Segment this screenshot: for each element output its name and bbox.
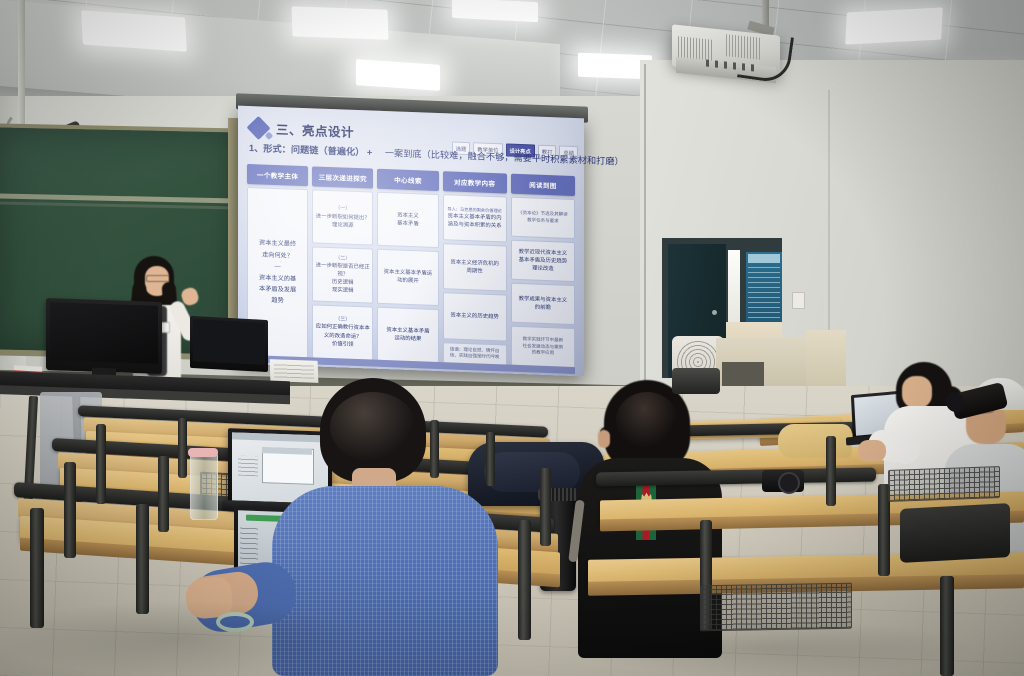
ceiling-light <box>292 6 389 39</box>
flow-cell-1-2: （三） 应如何正确教行资本本 义的改造命运？ 价值引领 <box>312 304 373 361</box>
compact-camera-lens-icon <box>778 472 800 494</box>
desk-post <box>518 520 531 640</box>
ceiling-light <box>845 7 943 44</box>
crown-icon <box>641 488 652 497</box>
flow-column-2: 中心线索 资本主义 基本矛盾 资本主义基本矛盾运 动的展开 资本主义基本矛盾 运… <box>377 169 438 363</box>
slide-diamond-small-icon <box>265 132 273 140</box>
light-switch[interactable] <box>792 292 805 309</box>
flow-column-header-4: 阅读到图 <box>511 174 575 196</box>
desk-post <box>178 418 187 478</box>
observer-right-face <box>902 376 932 408</box>
flow-column-header-2: 中心线索 <box>377 169 438 191</box>
projection-screen: 三、亮点设计 选题 教学单位 设计亮点 教打 总结 1、形式：问题链（普遍化） … <box>238 106 584 377</box>
flow-column-header-0: 一个教学主体 <box>247 164 308 186</box>
tumbler-lid <box>188 448 218 457</box>
slide-heading: 三、亮点设计 <box>276 119 354 141</box>
observer-right-hand <box>858 440 886 462</box>
flow-cell-2-0: 资本主义 基本矛盾 <box>377 192 438 249</box>
flow-column-1: 三层次递进探究 （一） 进一步断裂如何提出？ 理论溯源 （二） 进一步断裂是否已… <box>312 166 373 360</box>
flow-cell-4-1: 教学近现代资本主义 基本矛盾及历史趋势 理论改造 <box>511 240 575 282</box>
flow-cell-1-0: （一） 进一步断裂如何提出？ 理论溯源 <box>312 189 373 246</box>
instructor-glasses-icon <box>146 275 170 282</box>
podium-monitor-screen[interactable] <box>50 302 158 364</box>
desk-post <box>96 424 106 504</box>
chair[interactable] <box>900 503 1010 563</box>
desk-post <box>486 432 495 486</box>
tumbler-bottle <box>190 452 218 520</box>
wall-seam <box>644 64 646 394</box>
floor-shadow <box>560 620 980 676</box>
flow-cell-1-1: （二） 进一步断裂是否已经正视？ 历史逻辑 现实逻辑 <box>312 247 373 304</box>
flow-cell-4-3: 教学实践环节中最新 社会发展动态与案例 的教学应用 <box>511 326 575 368</box>
flow-cell-text: 应如何正确教行资本本 义的改造命运？ 价值引领 <box>316 323 370 349</box>
notice-board-text <box>748 266 780 318</box>
flow-column-header-1: 三层次递进探究 <box>312 166 373 188</box>
flow-cell-2-1: 资本主义基本矛盾运 动的展开 <box>377 249 438 306</box>
student-center-hair-highlight <box>616 392 678 448</box>
student-front-hair-highlight <box>330 392 416 462</box>
notice-board-title <box>748 254 780 263</box>
desk-post <box>136 504 149 614</box>
doorway-light <box>728 250 740 326</box>
podium-laptop-screen[interactable] <box>193 319 265 365</box>
desk-post <box>826 436 836 506</box>
flow-cell-3-1: 资本主义经济危机的 周期性 <box>443 243 507 292</box>
flow-cell-text: 资本主义基本矛盾的内 涵及与资本积累的关系 <box>448 212 502 230</box>
flow-cell-text: 进一步断裂如何提出？ 理论溯源 <box>316 212 370 230</box>
desk-post <box>158 456 169 532</box>
floor-shadow <box>0 600 360 676</box>
cabinet-shelf <box>722 362 764 388</box>
flow-cell-4-2: 教学成果与资本主义 的前瞻 <box>511 283 575 325</box>
slide-flowchart: 一个教学主体 资本主义最终 走向何处？ — 资本主义的基 本矛盾及发展 趋势 三… <box>247 164 575 368</box>
desk-post <box>64 462 76 558</box>
chair[interactable] <box>672 368 720 394</box>
desk-post <box>430 420 439 478</box>
laptop-text-lines <box>238 456 258 477</box>
flow-cell-2-2: 资本主义基本矛盾 运动的结果 <box>377 306 438 363</box>
student-center-ear <box>598 430 610 448</box>
slide-subheading: 1、形式：问题链（普遍化） + 一案到底（比较难，融合不够，需要平时积累素材和打… <box>249 140 624 168</box>
flow-column-header-3: 对应教学内容 <box>443 171 507 193</box>
flow-cell-3-0: 导入：马克思的剩余价值理论 资本主义基本矛盾的内 涵及与资本积累的关系 <box>443 194 507 243</box>
podium-paper-text <box>274 363 314 378</box>
yellow-bag <box>778 424 852 458</box>
cabinet-side-unit <box>806 330 846 392</box>
flow-column-4: 阅读到图 《资本论》节选及其解读 教学任务与要求 教学近现代资本主义 基本矛盾及… <box>511 174 575 368</box>
classroom-photo: 三、亮点设计 选题 教学单位 设计亮点 教打 总结 1、形式：问题链（普遍化） … <box>0 0 1024 676</box>
flow-cell-4-0: 《资本论》节选及其解读 教学任务与要求 <box>511 197 575 239</box>
flow-cell-3-2: 资本主义的历史趋势 <box>443 292 507 341</box>
flow-column-3: 对应教学内容 导入：马克思的剩余价值理论 资本主义基本矛盾的内 涵及与资本积累的… <box>443 171 507 365</box>
backpack-front-pocket <box>484 452 580 492</box>
slide-content: 三、亮点设计 选题 教学单位 设计亮点 教打 总结 1、形式：问题链（普遍化） … <box>238 106 584 377</box>
desk-post <box>540 468 551 546</box>
door-knob-icon[interactable] <box>712 310 717 315</box>
flow-cell-text: 进一步断裂是否已经正视？ 历史逻辑 现实逻辑 <box>315 262 370 296</box>
slide-subheading-prefix: 1、形式：问题链（普遍化） + <box>249 143 372 158</box>
desk-basket <box>888 466 1000 502</box>
